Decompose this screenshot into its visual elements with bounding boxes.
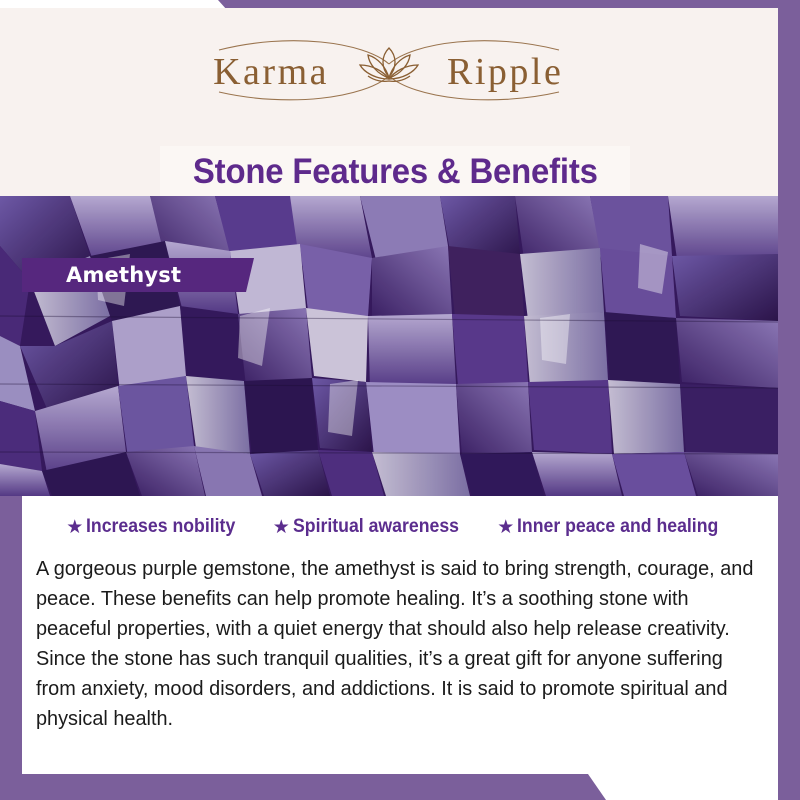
benefit-label-3: Inner peace and healing xyxy=(517,516,718,538)
benefit-label-1: Increases nobility xyxy=(86,516,235,538)
stone-name-banner: Amethyst xyxy=(22,258,254,292)
benefit-item-2: ★ Spiritual awareness xyxy=(273,516,472,538)
logo-svg: Karma Ripple xyxy=(179,34,599,108)
stone-photo xyxy=(0,196,778,496)
brand-word-two: Ripple xyxy=(447,51,563,93)
header-section: Karma Ripple Stone Features & Benefits xyxy=(0,8,778,196)
benefits-row: ★ Increases nobility ★ Spiritual awarene… xyxy=(22,496,778,538)
benefit-item-3: ★ Inner peace and healing xyxy=(497,516,734,538)
page-title: Stone Features & Benefits xyxy=(193,152,598,192)
brand-logo: Karma Ripple xyxy=(0,34,778,108)
star-icon: ★ xyxy=(66,518,83,537)
stone-name-label: Amethyst xyxy=(66,263,181,287)
benefit-item-1: ★ Increases nobility xyxy=(66,516,247,538)
brand-word-one: Karma xyxy=(213,51,329,93)
star-icon: ★ xyxy=(273,518,290,537)
content-section: ★ Increases nobility ★ Spiritual awarene… xyxy=(22,496,778,774)
benefit-label-2: Spiritual awareness xyxy=(293,516,459,538)
frame-bottom-band xyxy=(0,774,800,800)
stone-description: A gorgeous purple gemstone, the amethyst… xyxy=(36,554,756,734)
infographic-page: Karma Ripple Stone Features & Benefits xyxy=(0,0,800,800)
frame-right-band xyxy=(778,0,800,800)
page-title-band: Stone Features & Benefits xyxy=(160,146,630,198)
stone-photo-art xyxy=(0,196,778,496)
star-icon: ★ xyxy=(497,518,514,537)
